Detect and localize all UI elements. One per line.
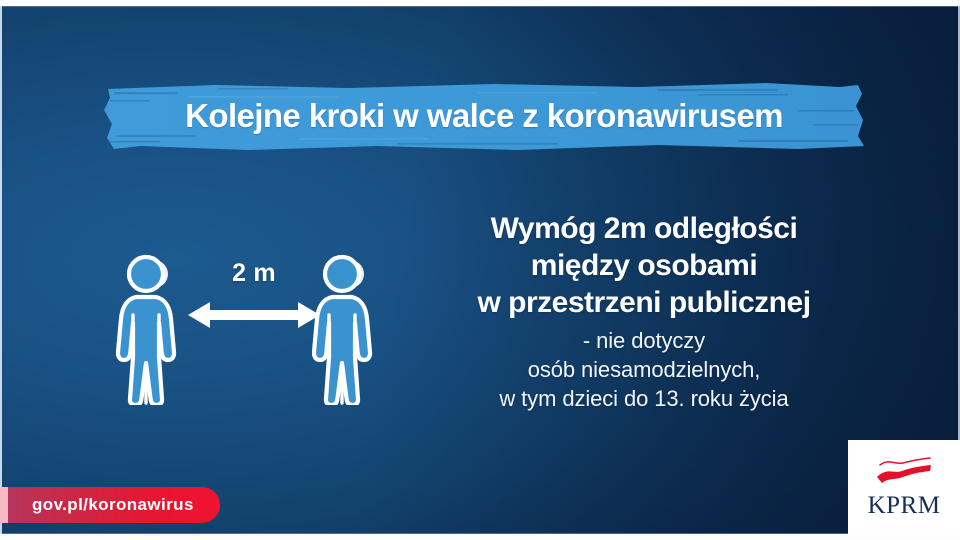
double-arrow-icon [186,298,322,332]
person-icon-left-shape [116,253,188,405]
headline-line-3: w przestrzeni publicznej [420,284,868,321]
social-distance-pictogram: 2 m [108,243,400,408]
subtext-block: - nie dotyczy osób niesamodzielnych, w t… [420,326,868,413]
message-block: Wymóg 2m odległości między osobami w prz… [420,210,868,413]
bottom-hairline [0,533,960,534]
double-arrow-shape [186,298,322,332]
kprm-wordmark: KPRM [868,493,941,518]
person-icon-right [312,253,384,405]
title-banner: Kolejne kroki w walce z koronawirusem [98,80,870,152]
banner-title-text: Kolejne kroki w walce z koronawirusem [98,80,870,152]
url-badge[interactable]: gov.pl/koronawirus [8,487,220,523]
distance-label: 2 m [194,259,314,288]
left-edge-strip [0,6,2,534]
subtext-line-2: osób niesamodzielnych, [420,355,868,384]
top-hairline [0,6,960,7]
polish-flag-emblem-icon [873,456,935,486]
headline-line-2: między osobami [420,247,868,284]
subtext-line-1: - nie dotyczy [420,326,868,355]
url-text: gov.pl/koronawirus [32,495,194,515]
headline-line-1: Wymóg 2m odległości [420,210,868,247]
person-icon-left [116,253,188,405]
subtext-line-3: w tym dzieci do 13. roku życia [420,384,868,413]
bottom-edge-strip [0,534,960,540]
person-icon-right-shape [312,253,384,405]
poster-root: Kolejne kroki w walce z koronawirusem 2 … [0,0,960,540]
kprm-logo: KPRM [848,440,960,534]
